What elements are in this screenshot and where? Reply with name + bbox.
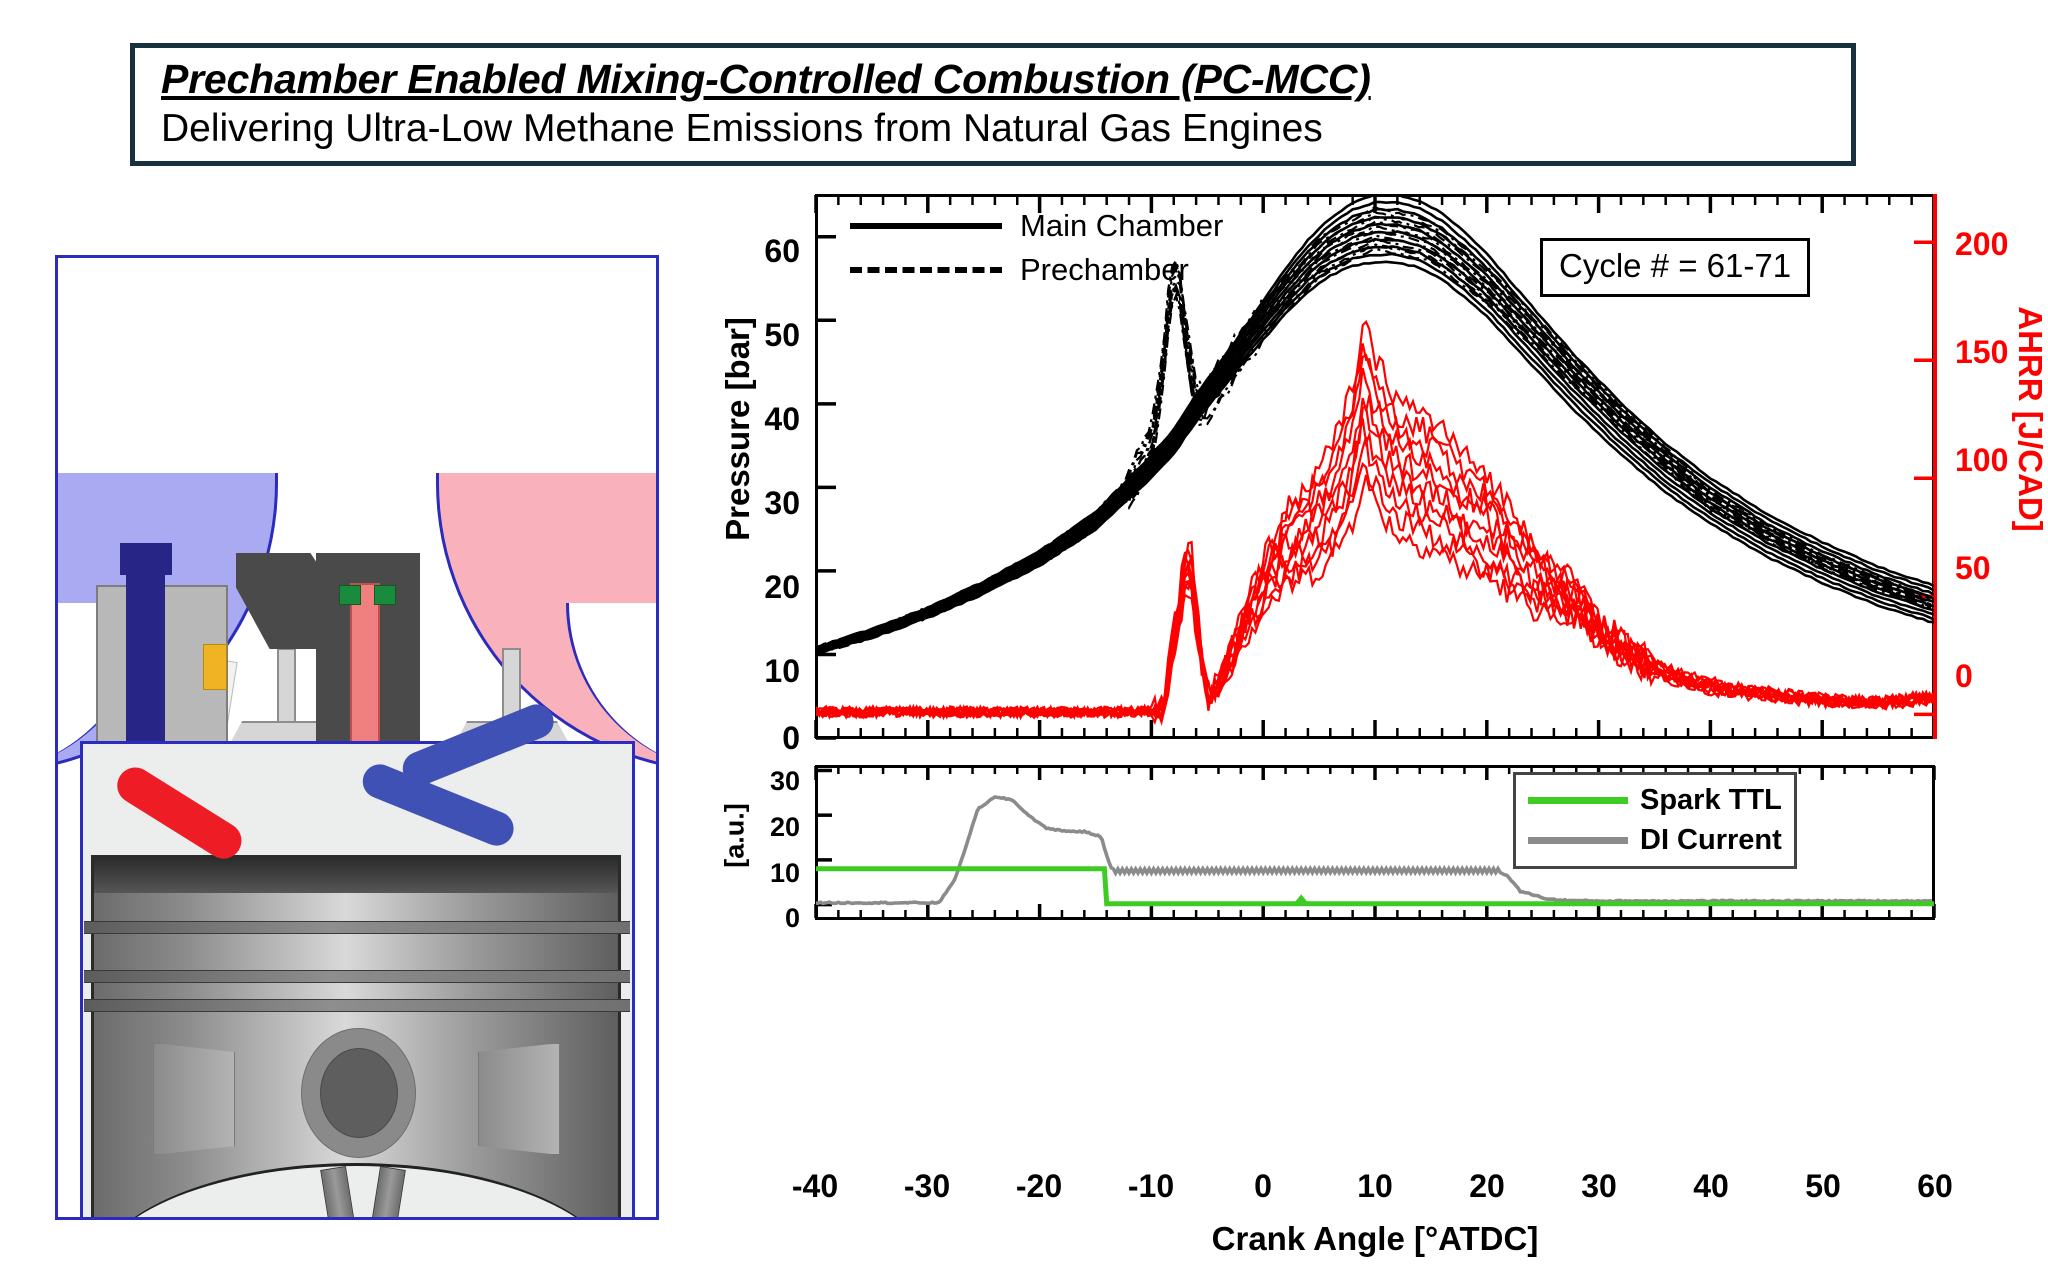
page-title: Prechamber Enabled Mixing-Controlled Com… [161,57,1851,103]
legend-label-di-current: DI Current [1640,824,1782,857]
prechamber-seal-left [339,585,361,605]
main-plot-legend: Main Chamber Prechamber [850,204,1223,292]
injector-cap [120,543,172,575]
gray-line-icon [1528,837,1628,844]
right-axis-ticks [1914,242,1934,714]
injector-connector [203,644,227,690]
piston-ring-2 [84,970,630,983]
combustion-chart: Pressure [bar] AHRR [J/CAD] [a.u.] Crank… [700,180,2030,1283]
legend-label-prechamber: Prechamber [1020,252,1189,288]
prechamber-seal-right [374,585,396,605]
legend-label-main-chamber: Main Chamber [1020,208,1223,244]
piston-relief-right [478,1043,560,1155]
legend-label-spark-ttl: Spark TTL [1640,784,1782,817]
legend-item-spark-ttl: Spark TTL [1528,780,1782,820]
legend-item-di-current: DI Current [1528,820,1782,860]
piston-crown [94,858,618,893]
dash-dot-line-icon [850,267,1002,273]
page-subtitle: Delivering Ultra-Low Methane Emissions f… [161,106,1851,153]
title-banner: Prechamber Enabled Mixing-Controlled Com… [130,43,1856,166]
cycle-annotation: Cycle # = 61-71 [1540,238,1810,297]
piston-ring-3 [84,999,630,1012]
plot-canvas [700,180,2030,1283]
piston-pin-bore [320,1048,398,1138]
piston-ring-1 [84,921,630,934]
solid-line-icon [850,223,1002,229]
engine-cylinder-diagram [55,255,659,1220]
legend-item-prechamber: Prechamber [850,248,1223,292]
green-line-icon [1528,797,1628,804]
sub-plot-legend: Spark TTL DI Current [1513,772,1797,869]
legend-item-main-chamber: Main Chamber [850,204,1223,248]
piston-relief-left [153,1043,235,1155]
